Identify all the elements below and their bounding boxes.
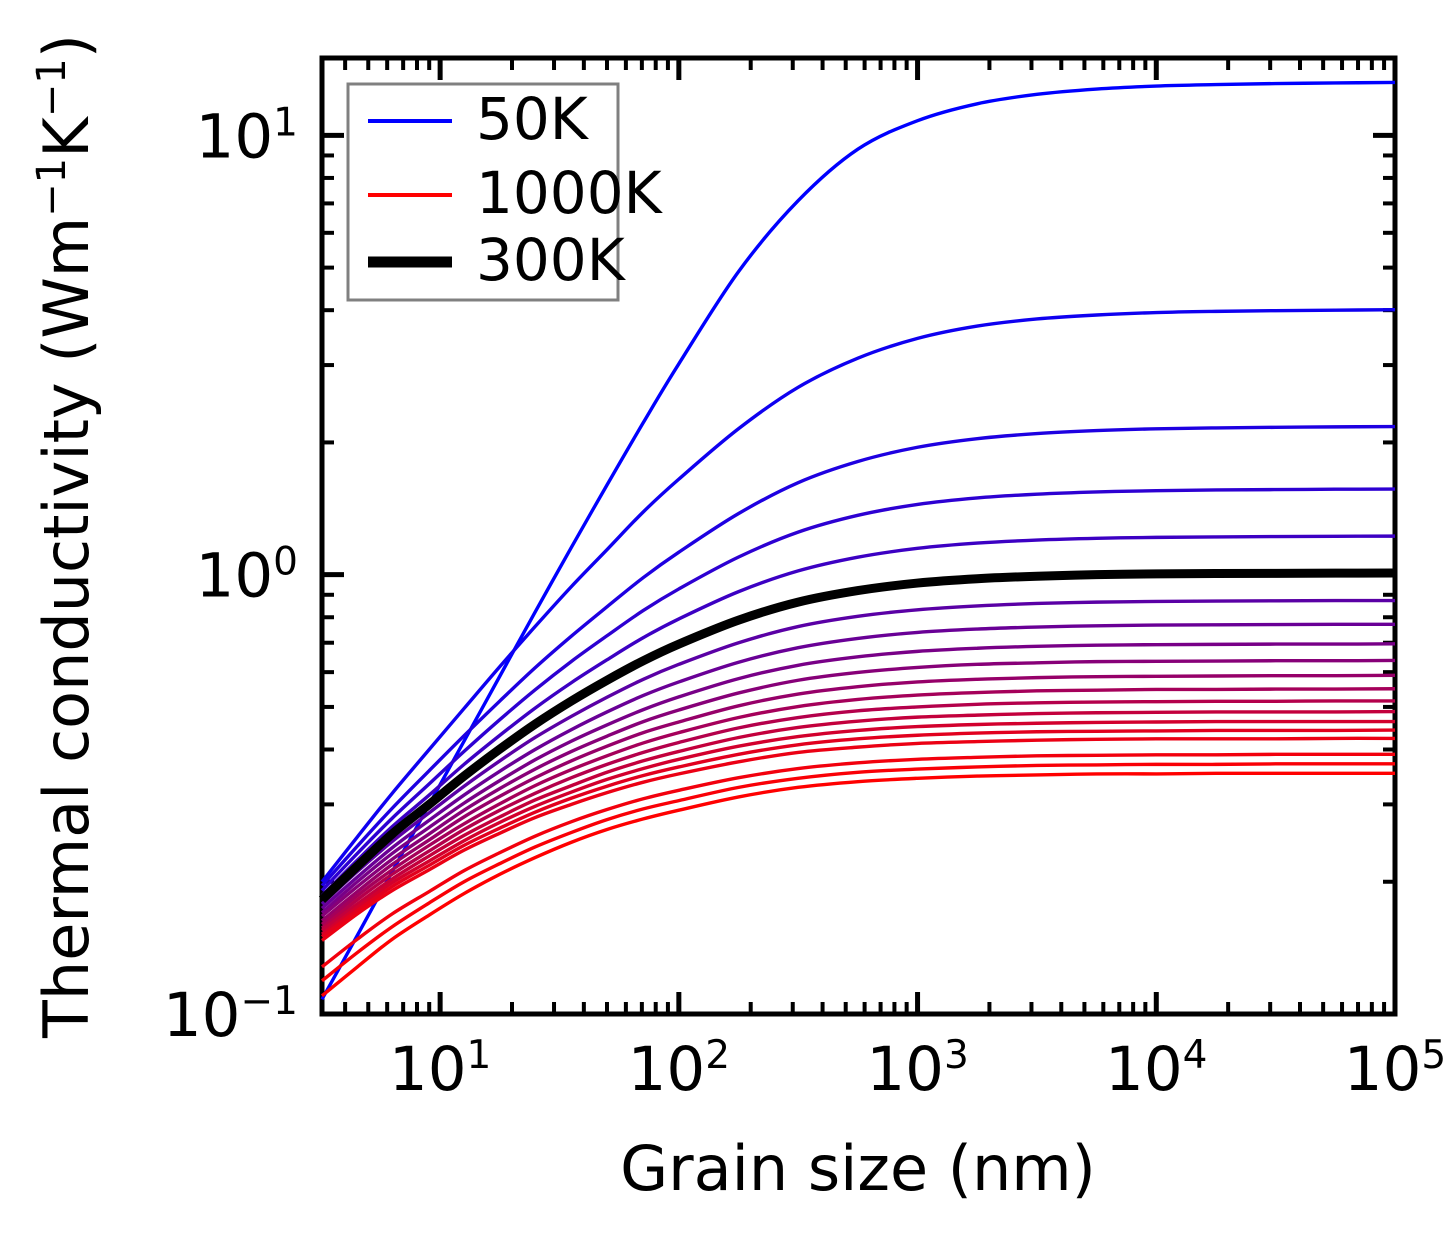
legend-label-50k: 50K — [476, 85, 590, 153]
x-tick-label-3: 104 — [1105, 1033, 1207, 1106]
chart-canvas: 101102103104105 10−1100101 Grain size (n… — [0, 0, 1454, 1254]
x-axis-tick-labels: 101102103104105 — [389, 1033, 1446, 1106]
x-tick-label-4: 105 — [1344, 1033, 1446, 1106]
curve-850k — [322, 738, 1395, 940]
thermal-conductivity-figure: 101102103104105 10−1100101 Grain size (n… — [0, 0, 1454, 1254]
x-axis-label: Grain size (nm) — [620, 1132, 1096, 1205]
y-tick-label-0: 10−1 — [163, 979, 298, 1052]
legend-label-300k: 300K — [476, 226, 627, 294]
y-tick-label-2: 101 — [196, 100, 298, 173]
y-axis-tick-labels: 10−1100101 — [163, 100, 298, 1051]
y-axis-label: Thermal conductivity (Wm−1K−1) — [29, 34, 103, 1039]
legend-label-1000k: 1000K — [476, 159, 664, 227]
curve-350k — [322, 601, 1395, 904]
curve-900k — [322, 754, 1395, 967]
x-tick-label-2: 103 — [866, 1033, 968, 1106]
curve-100k — [322, 310, 1395, 882]
x-tick-label-1: 102 — [628, 1033, 730, 1106]
y-axis-label-group: Thermal conductivity (Wm−1K−1) — [29, 34, 103, 1039]
y-tick-label-1: 100 — [196, 539, 298, 612]
curve-950k — [322, 764, 1395, 981]
legend[interactable]: 50K1000K300K — [348, 84, 664, 300]
x-tick-label-0: 101 — [389, 1033, 491, 1106]
